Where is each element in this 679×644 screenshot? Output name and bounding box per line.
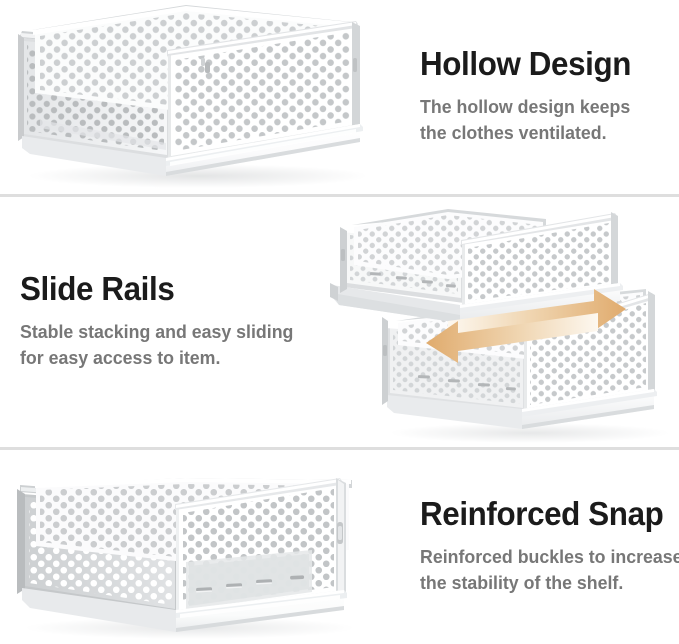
panel-1-heading: Hollow Design <box>420 47 658 82</box>
panel-3-subtext-line-1: Reinforced buckles to increase <box>420 544 661 570</box>
panel-3-heading: Reinforced Snap <box>420 497 658 532</box>
panel-2-subtext-line-2: for easy access to item. <box>20 345 308 371</box>
panel-1-subtext: The hollow design keeps the clothes vent… <box>420 94 661 147</box>
panel-reinforced-snap: Reinforced Snap Reinforced buckles to in… <box>0 450 679 644</box>
panel-1-subtext-line-1: The hollow design keeps <box>420 94 661 120</box>
panel-3-text-block: Reinforced Snap Reinforced buckles to in… <box>400 497 679 597</box>
storage-basket-stacked-sliding-view <box>330 197 679 447</box>
panel-slide-rails: Slide Rails Stable stacking and easy sli… <box>0 197 679 447</box>
panel-1-subtext-line-2: the clothes ventilated. <box>420 120 661 146</box>
infographic-root: Hollow Design The hollow design keeps th… <box>0 0 679 638</box>
storage-basket-single-front-view <box>0 0 400 194</box>
panel-1-text-block: Hollow Design The hollow design keeps th… <box>400 47 679 147</box>
panel-2-subtext: Stable stacking and easy sliding for eas… <box>20 319 308 372</box>
storage-basket-reinforced-buckles-view <box>0 450 400 644</box>
panel-2-subtext-line-1: Stable stacking and easy sliding <box>20 319 308 345</box>
panel-hollow-design: Hollow Design The hollow design keeps th… <box>0 0 679 194</box>
panel-3-subtext-line-2: the stability of the shelf. <box>420 570 661 596</box>
panel-2-heading: Slide Rails <box>20 272 305 307</box>
panel-2-text-block: Slide Rails Stable stacking and easy sli… <box>0 272 330 372</box>
panel-3-subtext: Reinforced buckles to increase the stabi… <box>420 544 661 597</box>
